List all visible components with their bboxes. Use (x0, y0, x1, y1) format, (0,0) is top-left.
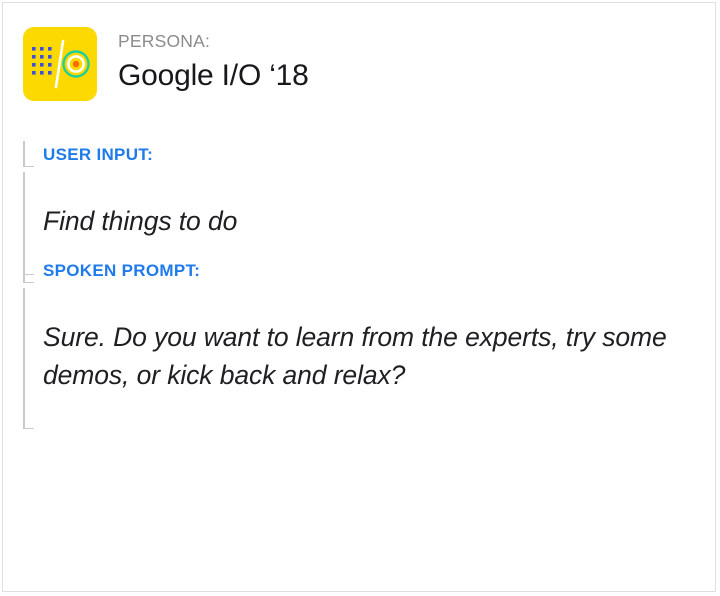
section-label-spoken-prompt: SPOKEN PROMPT: (43, 262, 200, 279)
page-title: Google I/O ‘18 (118, 58, 309, 95)
persona-card: PERSONA: Google I/O ‘18 USER INPUT: Find… (2, 2, 716, 592)
spoken-prompt-text: Sure. Do you want to learn from the expe… (43, 318, 703, 394)
bracket-user-input-label: USER INPUT: (23, 141, 237, 167)
bracket-spoken-prompt-label: SPOKEN PROMPT: (23, 257, 703, 283)
section-label-user-input: USER INPUT: (43, 146, 153, 163)
google-io-logo-icon (23, 27, 97, 101)
persona-header: PERSONA: Google I/O ‘18 (23, 27, 309, 101)
section-spoken-prompt: SPOKEN PROMPT: Sure. Do you want to lear… (23, 257, 703, 429)
user-input-text: Find things to do (43, 202, 237, 240)
persona-text-group: PERSONA: Google I/O ‘18 (118, 27, 309, 95)
section-user-input: USER INPUT: Find things to do (23, 141, 237, 275)
persona-label: PERSONA: (118, 31, 309, 52)
bracket-spoken-prompt-body: Sure. Do you want to learn from the expe… (23, 288, 703, 429)
